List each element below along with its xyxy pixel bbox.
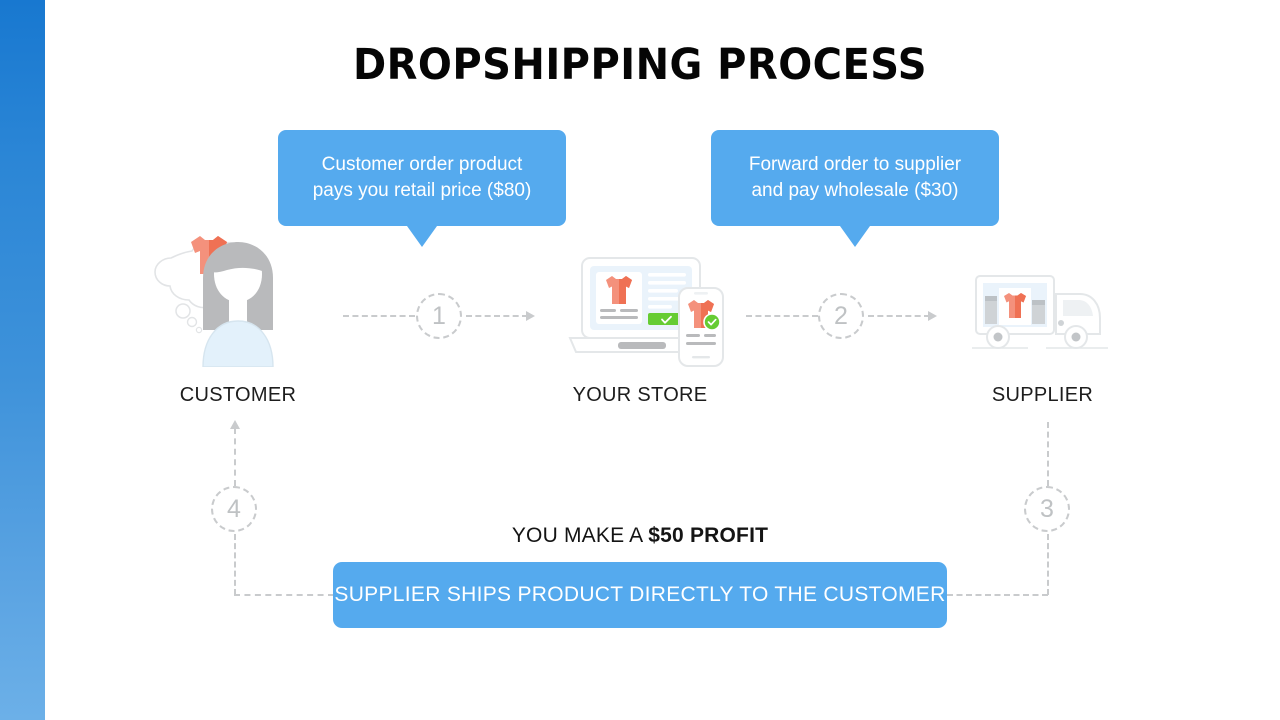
phone-icon	[679, 288, 723, 366]
connector-step-1-right	[466, 315, 528, 317]
shipping-banner-text: SUPPLIER SHIPS PRODUCT DIRECTLY TO THE C…	[334, 583, 945, 607]
step-circle-1: 1	[416, 293, 462, 339]
arrow-up-icon	[230, 420, 240, 429]
profit-statement: YOU MAKE A $50 PROFIT	[0, 524, 1280, 548]
node-label-customer: CUSTOMER	[143, 384, 333, 407]
shipping-banner: SUPPLIER SHIPS PRODUCT DIRECTLY TO THE C…	[333, 562, 947, 628]
callout-1-line-1: Customer order product	[313, 152, 532, 178]
store-illustration	[562, 252, 732, 372]
callout-forward-order: Forward order to supplier and pay wholes…	[711, 130, 999, 226]
supplier-illustration	[968, 268, 1118, 368]
connector-step-4-top	[234, 428, 236, 486]
order-confirmed-badge-icon	[704, 314, 720, 330]
callout-1-line-2: pays you retail price ($80)	[313, 178, 532, 204]
callout-pointer-icon	[840, 226, 870, 247]
slide-canvas: DROPSHIPPING PROCESS Customer order prod…	[0, 0, 1280, 720]
left-accent-bar	[0, 0, 45, 720]
delivery-truck-icon	[972, 276, 1108, 348]
connector-step-3-top	[1047, 422, 1049, 486]
person-avatar-icon	[203, 242, 273, 367]
connector-step-2-left	[746, 315, 818, 317]
connector-step-4-elbow	[234, 594, 334, 596]
callout-customer-order: Customer order product pays you retail p…	[278, 130, 566, 226]
customer-illustration	[143, 222, 333, 367]
callout-pointer-icon	[407, 226, 437, 247]
node-label-store: YOUR STORE	[555, 384, 725, 407]
step-circle-2: 2	[818, 293, 864, 339]
profit-prefix: YOU MAKE A	[512, 524, 648, 547]
connector-step-3-elbow	[947, 594, 1048, 596]
connector-step-2-right	[868, 315, 930, 317]
page-title: DROPSHIPPING PROCESS	[45, 40, 1235, 90]
callout-2-line-2: and pay wholesale ($30)	[749, 178, 961, 204]
callout-2-line-1: Forward order to supplier	[749, 152, 961, 178]
profit-amount: $50 PROFIT	[648, 524, 768, 547]
arrow-right-icon	[928, 311, 937, 321]
node-label-supplier: SUPPLIER	[965, 384, 1120, 407]
connector-step-1-left	[343, 315, 415, 317]
arrow-right-icon	[526, 311, 535, 321]
